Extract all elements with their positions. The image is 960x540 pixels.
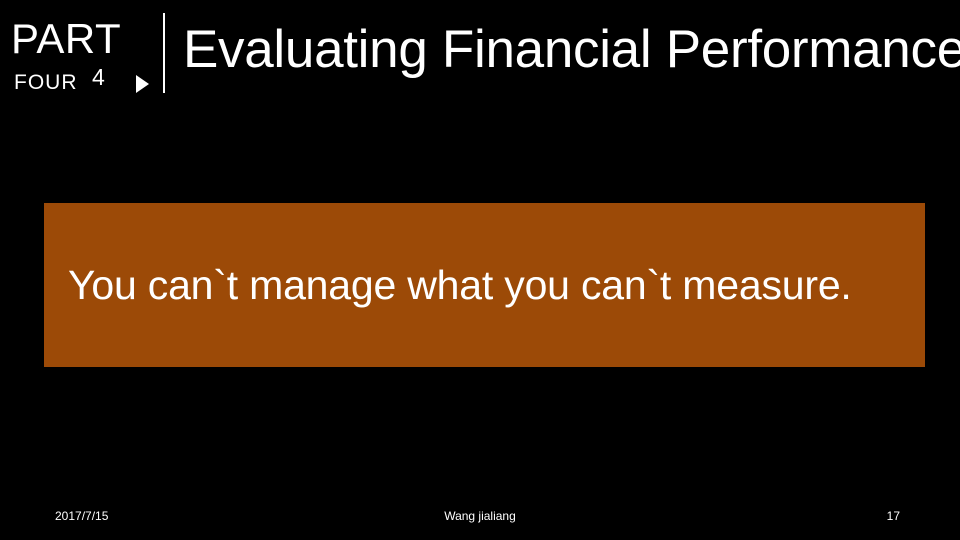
part-label: PART	[11, 18, 121, 60]
slide-header: PART FOUR 4 Evaluating Financial Perform…	[0, 0, 960, 105]
quote-banner: You can`t manage what you can`t measure.	[44, 203, 925, 367]
page-title: Evaluating Financial Performance	[183, 17, 960, 83]
triangle-right-icon	[136, 75, 149, 93]
part-ordinal-label: FOUR	[14, 72, 78, 93]
part-number-label: 4	[92, 66, 105, 89]
footer-author: Wang jialiang	[0, 508, 960, 524]
slide-footer: 2017/7/15 Wang jialiang 17	[0, 500, 960, 535]
quote-text: You can`t manage what you can`t measure.	[68, 203, 925, 367]
presentation-slide: PART FOUR 4 Evaluating Financial Perform…	[0, 0, 960, 540]
header-divider	[163, 13, 165, 93]
footer-page-number: 17	[887, 508, 900, 524]
part-indicator: PART FOUR 4	[8, 10, 158, 96]
